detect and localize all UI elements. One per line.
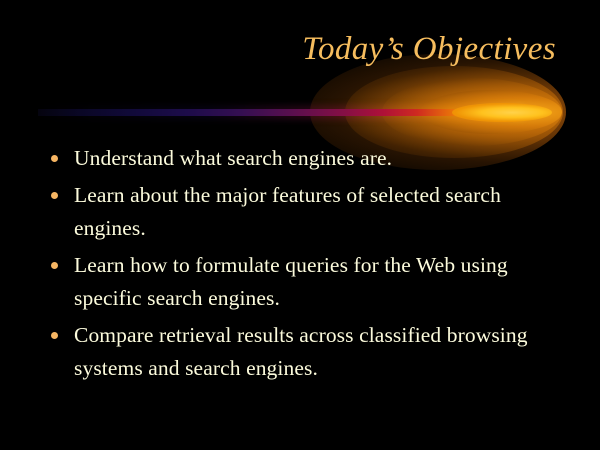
bullet-dot-icon — [51, 332, 58, 339]
bullet-text: Learn about the major features of select… — [74, 179, 560, 245]
comet-streak-bar — [38, 109, 518, 116]
bullet-dot-icon — [51, 155, 58, 162]
list-item: Learn how to formulate queries for the W… — [44, 249, 560, 315]
comet-head-core — [452, 103, 552, 122]
bullet-text: Understand what search engines are. — [74, 142, 560, 175]
bullet-list: Understand what search engines are. Lear… — [44, 142, 560, 389]
list-item: Compare retrieval results across classif… — [44, 319, 560, 385]
presentation-slide: Today’s Objectives Understand what searc… — [0, 0, 600, 450]
list-item: Understand what search engines are. — [44, 142, 560, 175]
list-item: Learn about the major features of select… — [44, 179, 560, 245]
comet-glow-mid-inner — [382, 78, 562, 146]
bullet-text: Learn how to formulate queries for the W… — [74, 249, 560, 315]
comet-glow-inner — [420, 90, 562, 134]
slide-title: Today’s Objectives — [0, 30, 556, 68]
bullet-dot-icon — [51, 192, 58, 199]
bullet-text: Compare retrieval results across classif… — [74, 319, 560, 385]
comet-streak-feather — [38, 105, 524, 120]
bullet-dot-icon — [51, 262, 58, 269]
